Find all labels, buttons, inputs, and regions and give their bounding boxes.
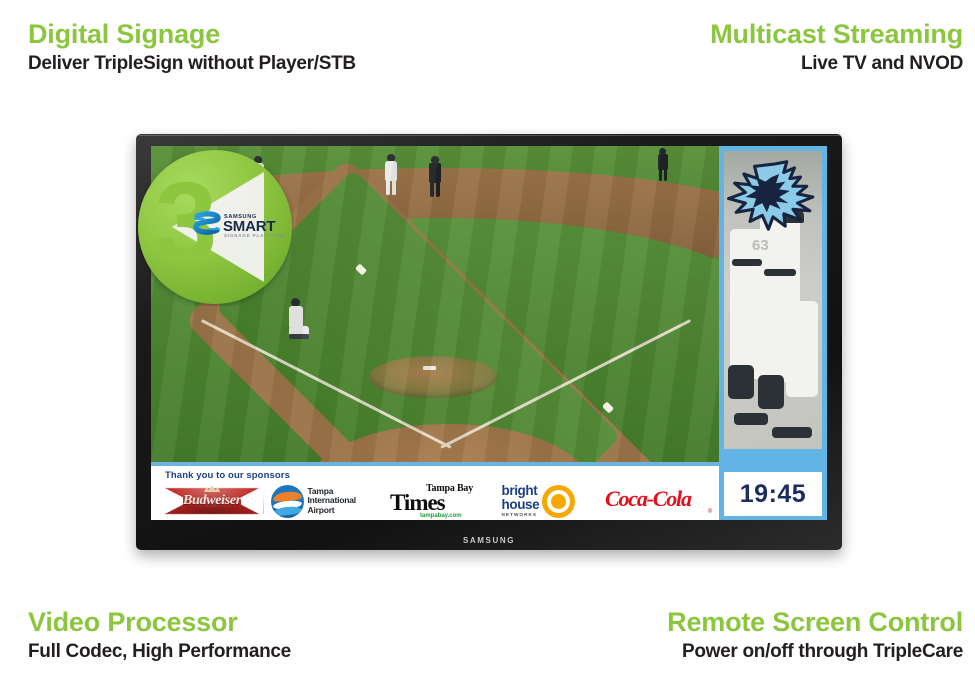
caption-subtitle: Full Codec, High Performance: [28, 642, 291, 662]
hawk-head-logo: [727, 160, 819, 234]
tia-line3: Airport: [308, 506, 356, 516]
tbt-url: tampabay.com: [420, 513, 462, 519]
sponsor-bright-house-networks: bright house NETWORKS: [502, 483, 598, 519]
side-panel: 63 19:45: [719, 146, 827, 520]
coca-cola-registered-mark: ®: [708, 509, 712, 515]
samsung-s-mark: [194, 211, 220, 237]
samsung-brand-label: SAMSUNG: [136, 536, 842, 545]
coca-cola-logo: Coca-Cola ®: [605, 486, 713, 516]
bright-house-wordmark: bright house NETWORKS: [502, 484, 540, 518]
budweiser-logo: Budweiser: [161, 486, 263, 516]
pitchers-mound: [369, 356, 497, 398]
player-outfielder: [657, 148, 669, 182]
player-umpire-infield: [428, 156, 442, 198]
caption-title: Remote Screen Control: [667, 608, 963, 636]
tbt-line2: Times: [390, 491, 445, 514]
tampa-airport-logo: Tampa International Airport: [271, 484, 383, 518]
budweiser-crown-icon: [204, 485, 220, 492]
bright-house-logo: bright house NETWORKS: [502, 484, 598, 518]
caption-multicast-streaming: Multicast Streaming Live TV and NVOD: [710, 20, 963, 74]
bh-line1: bright: [502, 484, 540, 498]
sponsor-tampa-bay-times: Tampa Bay Times tampabay.com: [390, 483, 494, 519]
caption-title: Video Processor: [28, 608, 291, 636]
caption-title: Digital Signage: [28, 20, 356, 48]
tampa-airport-wordmark: Tampa International Airport: [308, 487, 356, 516]
bh-line3: NETWORKS: [502, 513, 540, 518]
sponsor-budweiser: Budweiser: [161, 483, 263, 519]
jersey-number: 63: [752, 237, 769, 254]
pitching-rubber: [423, 366, 436, 370]
caption-subtitle: Deliver TripleSign without Player/STB: [28, 54, 356, 74]
sponsor-tampa-international-airport: Tampa International Airport: [271, 483, 383, 519]
bh-line2: house: [502, 498, 540, 512]
logo-tagline: SIGNAGE PLATFORM: [224, 233, 284, 238]
sponsor-ticker-bar: Thank you to our sponsors Budweiser: [151, 462, 719, 520]
airport-globe-icon: [271, 485, 304, 518]
coca-cola-wordmark: Coca-Cola: [605, 486, 691, 512]
caption-title: Multicast Streaming: [710, 20, 963, 48]
caption-remote-screen-control: Remote Screen Control Power on/off throu…: [667, 608, 963, 662]
caption-video-processor: Video Processor Full Codec, High Perform…: [28, 608, 291, 662]
clock-time: 19:45: [740, 480, 806, 509]
slide-canvas: Digital Signage Deliver TripleSign witho…: [0, 0, 975, 699]
caption-subtitle: Live TV and NVOD: [710, 54, 963, 74]
bright-house-rings-icon: [542, 485, 575, 518]
caption-subtitle: Power on/off through TripleCare: [667, 642, 963, 662]
sponsor-coca-cola: Coca-Cola ®: [605, 483, 713, 519]
sponsor-heading: Thank you to our sponsors: [165, 470, 290, 481]
tampa-bay-times-logo: Tampa Bay Times tampabay.com: [390, 483, 494, 519]
clock-widget: 19:45: [724, 472, 822, 516]
smart-signage-badge: 3 SAMSUNG SMART SIGNAGE PLATFORM: [136, 148, 294, 306]
sponsor-logo-row: Budweiser: [161, 483, 713, 519]
caption-digital-signage: Digital Signage Deliver TripleSign witho…: [28, 20, 356, 74]
player-runner-second: [383, 154, 399, 196]
